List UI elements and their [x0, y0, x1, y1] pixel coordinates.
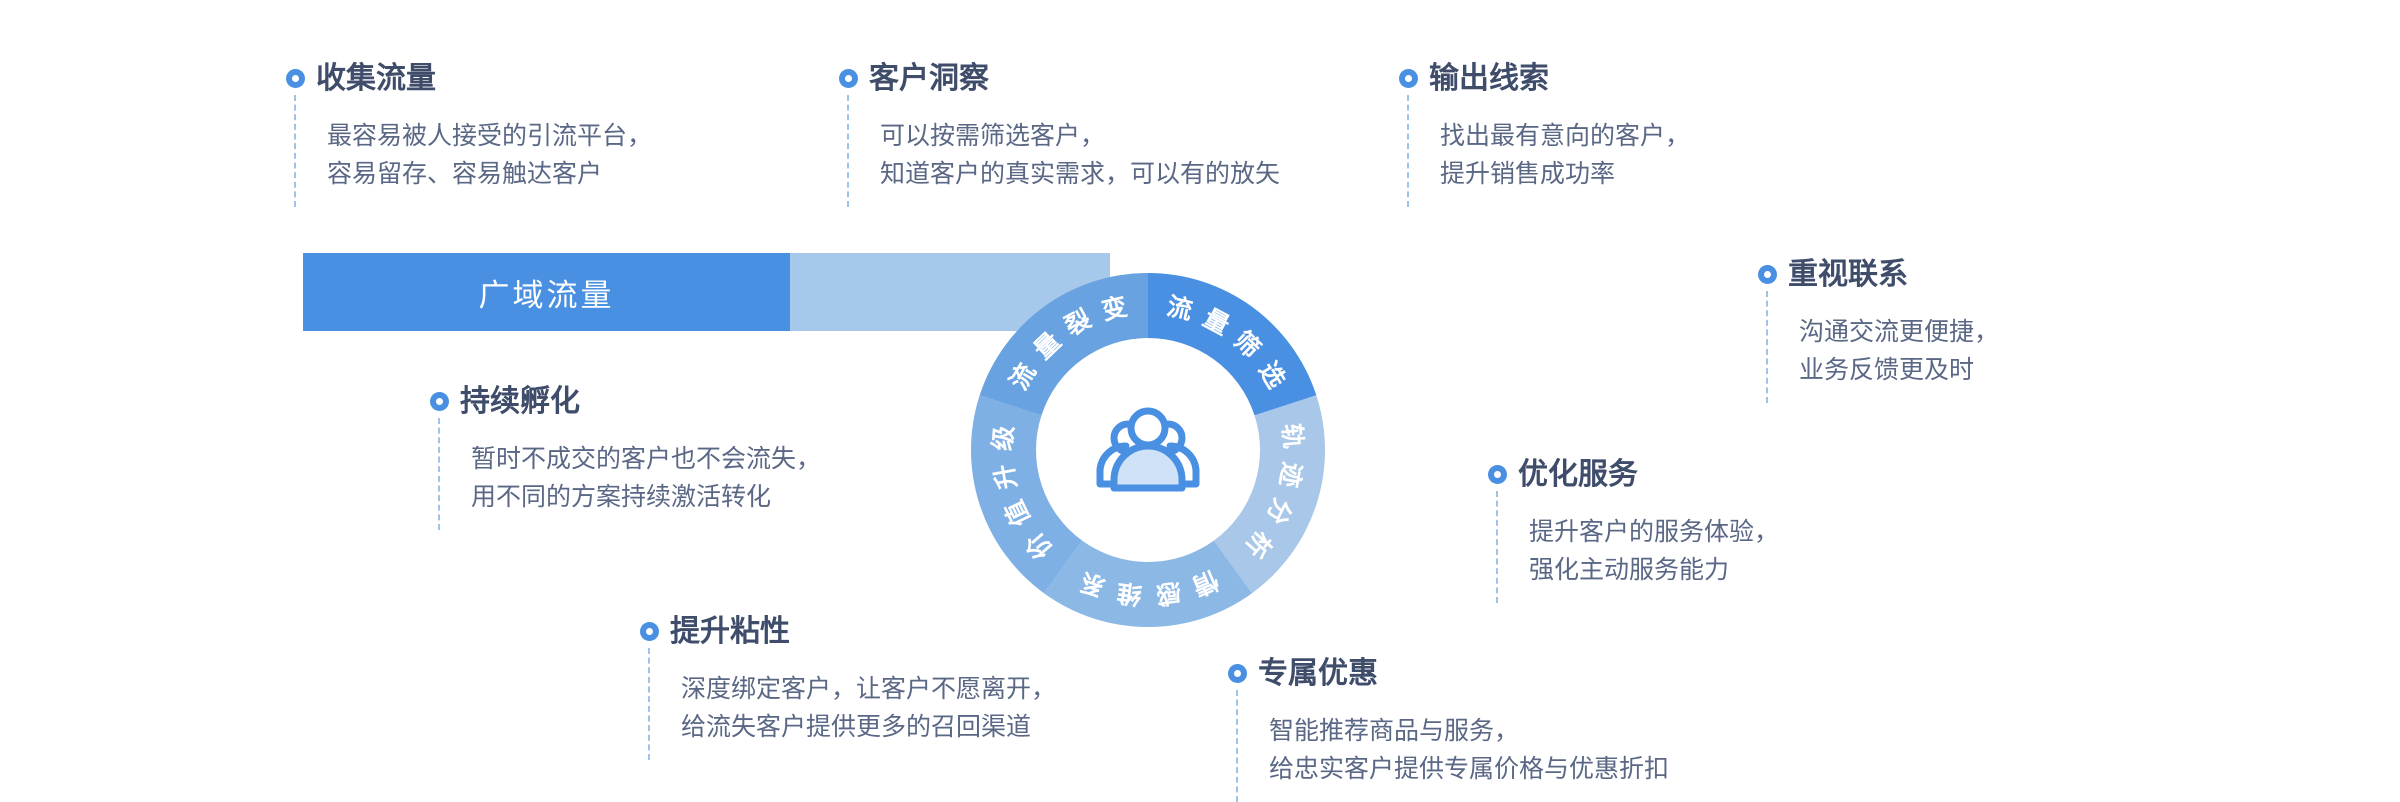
callout-header: 提升粘性 [640, 615, 1056, 648]
callout-optimize-service: 优化服务提升客户的服务体验，强化主动服务能力 [1488, 458, 1779, 603]
callout-header: 持续孵化 [430, 385, 821, 418]
callout-line: 知道客户的真实需求，可以有的放矢 [880, 155, 1280, 193]
callout-body: 深度绑定客户，让客户不愿离开，给流失客户提供更多的召回渠道 [640, 648, 1056, 760]
callout-header: 重视联系 [1758, 258, 1999, 291]
callout-line: 给忠实客户提供专属价格与优惠折扣 [1269, 750, 1669, 788]
callout-marker-dot-icon[interactable] [1399, 69, 1418, 88]
callout-marker-dot-icon[interactable] [1758, 265, 1777, 284]
callout-title: 专属优惠 [1258, 657, 1378, 690]
callout-line: 智能推荐商品与服务， [1269, 712, 1669, 750]
donut-segment[interactable] [1044, 541, 1252, 627]
callout-body: 暂时不成交的客户也不会流失，用不同的方案持续激活转化 [430, 418, 821, 530]
callout-dashed-stem [1496, 491, 1498, 603]
callout-body: 智能推荐商品与服务，给忠实客户提供专属价格与优惠折扣 [1228, 690, 1669, 802]
callout-body: 最容易被人接受的引流平台，容易留存、容易触达客户 [286, 95, 652, 207]
callout-title: 持续孵化 [460, 385, 580, 418]
callout-value-contact: 重视联系沟通交流更便捷，业务反馈更及时 [1758, 258, 1999, 403]
callout-title: 提升粘性 [670, 615, 790, 648]
callout-header: 输出线索 [1399, 62, 1690, 95]
callout-line: 深度绑定客户，让客户不愿离开， [681, 670, 1056, 708]
callout-line: 暂时不成交的客户也不会流失， [471, 440, 821, 478]
banner-dark-segment: 广域流量 [303, 253, 790, 331]
donut-segment[interactable] [1214, 395, 1325, 593]
callout-header: 优化服务 [1488, 458, 1779, 491]
callout-header: 收集流量 [286, 62, 652, 95]
donut-segment[interactable] [1148, 273, 1316, 415]
callout-lines: 深度绑定客户，让客户不愿离开，给流失客户提供更多的召回渠道 [681, 648, 1056, 760]
callout-lines: 智能推荐商品与服务，给忠实客户提供专属价格与优惠折扣 [1269, 690, 1669, 802]
callout-title: 优化服务 [1518, 458, 1638, 491]
callout-line: 最容易被人接受的引流平台， [327, 117, 652, 155]
callout-line: 找出最有意向的客户， [1440, 117, 1690, 155]
callout-dashed-stem [847, 95, 849, 207]
callout-line: 强化主动服务能力 [1529, 551, 1779, 589]
callout-marker-dot-icon[interactable] [839, 69, 858, 88]
callout-output-leads: 输出线索找出最有意向的客户，提升销售成功率 [1399, 62, 1690, 207]
callout-title: 输出线索 [1429, 62, 1549, 95]
callout-lines: 最容易被人接受的引流平台，容易留存、容易触达客户 [327, 95, 652, 207]
callout-line: 业务反馈更及时 [1799, 351, 1999, 389]
callout-header: 客户洞察 [839, 62, 1280, 95]
callout-dashed-stem [438, 418, 440, 530]
callout-improve-stickiness: 提升粘性深度绑定客户，让客户不愿离开，给流失客户提供更多的召回渠道 [640, 615, 1056, 760]
callout-marker-dot-icon[interactable] [1488, 465, 1507, 484]
callout-line: 提升销售成功率 [1440, 155, 1690, 193]
callout-collect-traffic: 收集流量最容易被人接受的引流平台，容易留存、容易触达客户 [286, 62, 652, 207]
lifecycle-donut: 流量筛选轨迹分析情感维系价值升级流量裂变 [971, 273, 1325, 627]
callout-customer-insight: 客户洞察可以按需筛选客户，知道客户的真实需求，可以有的放矢 [839, 62, 1280, 207]
callout-lines: 找出最有意向的客户，提升销售成功率 [1440, 95, 1690, 207]
callout-title: 重视联系 [1788, 258, 1908, 291]
callout-lines: 沟通交流更便捷，业务反馈更及时 [1799, 291, 1999, 403]
callout-line: 给流失客户提供更多的召回渠道 [681, 708, 1056, 746]
callout-marker-dot-icon[interactable] [1228, 664, 1247, 683]
callout-body: 可以按需筛选客户，知道客户的真实需求，可以有的放矢 [839, 95, 1280, 207]
callout-body: 提升客户的服务体验，强化主动服务能力 [1488, 491, 1779, 603]
callout-line: 用不同的方案持续激活转化 [471, 478, 821, 516]
callout-body: 找出最有意向的客户，提升销售成功率 [1399, 95, 1690, 207]
callout-dashed-stem [1407, 95, 1409, 207]
callout-lines: 暂时不成交的客户也不会流失，用不同的方案持续激活转化 [471, 418, 821, 530]
callout-header: 专属优惠 [1228, 657, 1669, 690]
callout-body: 沟通交流更便捷，业务反馈更及时 [1758, 291, 1999, 403]
callout-dashed-stem [294, 95, 296, 207]
callout-title: 客户洞察 [869, 62, 989, 95]
callout-line: 提升客户的服务体验， [1529, 513, 1779, 551]
callout-marker-dot-icon[interactable] [640, 622, 659, 641]
callout-line: 容易留存、容易触达客户 [327, 155, 652, 193]
callout-line: 可以按需筛选客户， [880, 117, 1280, 155]
donut-segment[interactable] [971, 395, 1082, 593]
users-group-icon [1088, 398, 1208, 503]
callout-dashed-stem [1766, 291, 1768, 403]
callout-line: 沟通交流更便捷， [1799, 313, 1999, 351]
callout-title: 收集流量 [316, 62, 436, 95]
callout-dashed-stem [648, 648, 650, 760]
donut-segment[interactable] [980, 273, 1148, 415]
infographic-canvas: 广域流量 流量筛选轨迹分析情感维系价值升级流量裂变 收集流量最容易被人接受的引流… [0, 0, 2400, 801]
callout-marker-dot-icon[interactable] [430, 392, 449, 411]
callout-continuous-incubation: 持续孵化暂时不成交的客户也不会流失，用不同的方案持续激活转化 [430, 385, 821, 530]
callout-lines: 提升客户的服务体验，强化主动服务能力 [1529, 491, 1779, 603]
callout-lines: 可以按需筛选客户，知道客户的真实需求，可以有的放矢 [880, 95, 1280, 207]
callout-dashed-stem [1236, 690, 1238, 802]
callout-exclusive-offers: 专属优惠智能推荐商品与服务，给忠实客户提供专属价格与优惠折扣 [1228, 657, 1669, 802]
banner-label: 广域流量 [479, 270, 615, 315]
callout-marker-dot-icon[interactable] [286, 69, 305, 88]
